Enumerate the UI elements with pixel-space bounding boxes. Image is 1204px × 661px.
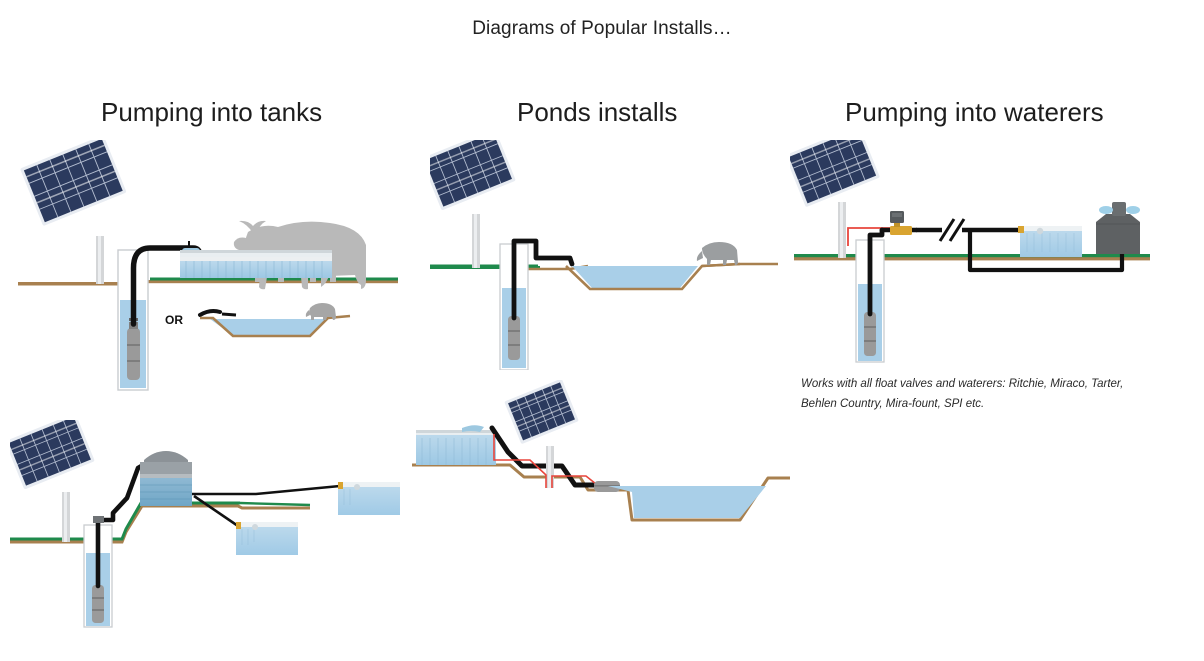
pipe-break-marks (940, 219, 964, 241)
diagram-ponds-top (430, 140, 780, 370)
automatic-waterer (1096, 202, 1140, 254)
gravity-line-branch (194, 496, 238, 526)
diagram-ponds-bottom (400, 380, 790, 550)
waterers-note: Works with all float valves and waterers… (801, 374, 1131, 414)
float-valve (1018, 226, 1024, 233)
column-title-waterers: Pumping into waterers (845, 97, 1104, 128)
trough-near (236, 522, 298, 555)
trough-far (338, 482, 400, 515)
submersible-pump (92, 585, 104, 623)
solar-panel (10, 420, 95, 542)
column-title-ponds: Ponds installs (517, 97, 677, 128)
cow-silhouette (697, 242, 738, 265)
elevated-storage-tank (140, 451, 192, 506)
diagram-pumping-into-waterers (790, 140, 1160, 370)
solar-panel (20, 140, 127, 284)
storage-tank (416, 425, 496, 465)
or-label: OR (165, 313, 183, 327)
page-title: Diagrams of Popular Installs… (0, 18, 1204, 40)
diagram-pumping-into-tanks-bottom (10, 420, 400, 635)
pond (566, 264, 778, 289)
submersible-pump (864, 312, 876, 356)
pitless-adapter (93, 516, 104, 523)
ground-line (18, 278, 398, 286)
gravity-line (192, 486, 340, 494)
diagram-pumping-into-tanks-top (10, 140, 400, 405)
shutoff-valve (890, 222, 912, 235)
float-valve (338, 482, 343, 489)
submersible-pump (508, 316, 520, 360)
controller-box (890, 211, 904, 223)
trough-with-float-valve (1018, 226, 1082, 257)
column-title-tanks: Pumping into tanks (101, 97, 322, 128)
float-valve (236, 522, 241, 529)
